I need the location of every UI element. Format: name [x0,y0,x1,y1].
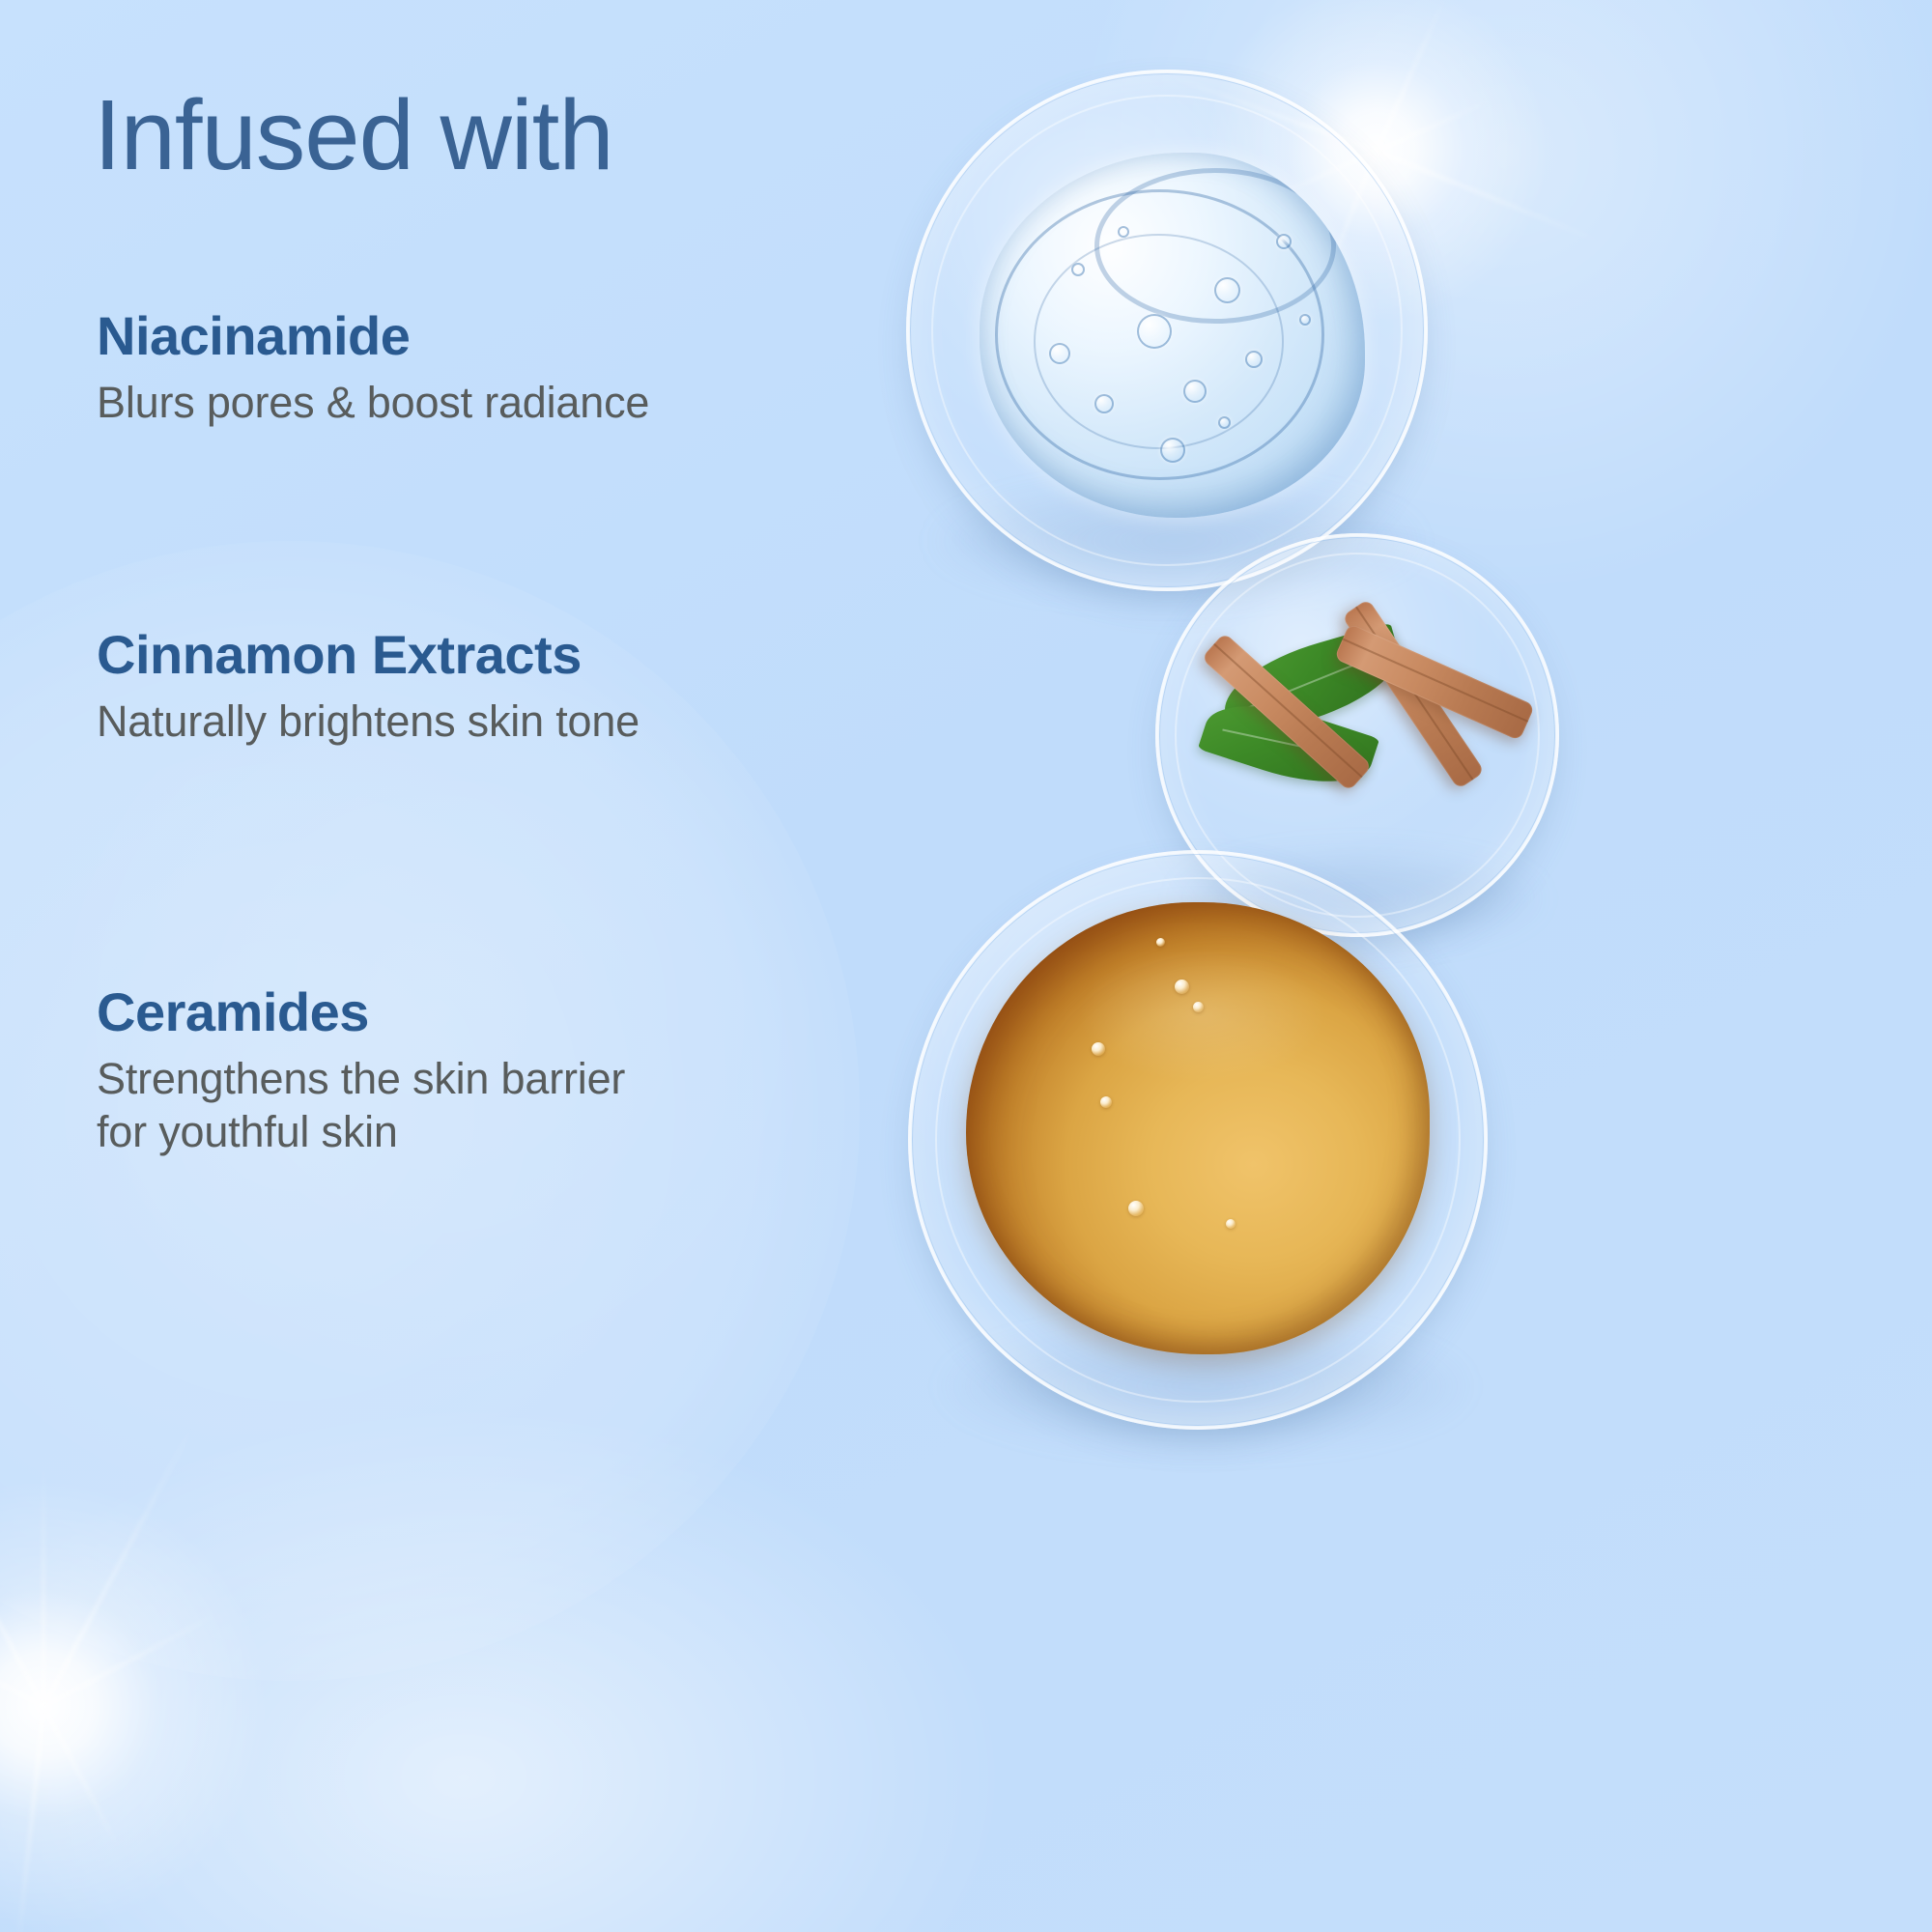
ingredient-title: Cinnamon Extracts [97,626,639,684]
poster-canvas: Infused with Niacinamide Blurs pores & b… [0,0,1932,1932]
ingredient-description: Naturally brightens skin tone [97,696,639,749]
ingredient-item-niacinamide: Niacinamide Blurs pores & boost radiance [97,307,649,430]
ingredient-title: Ceramides [97,983,625,1041]
ingredient-item-cinnamon-extracts: Cinnamon Extracts Naturally brightens sk… [97,626,639,749]
ingredient-item-ceramides: Ceramides Strengthens the skin barrier f… [97,983,625,1159]
text-column: Infused with Niacinamide Blurs pores & b… [0,0,1932,1932]
ingredient-description: Strengthens the skin barrier for youthfu… [97,1053,625,1159]
ingredient-description: Blurs pores & boost radiance [97,377,649,430]
page-title: Infused with [94,83,613,187]
ingredient-title: Niacinamide [97,307,649,365]
